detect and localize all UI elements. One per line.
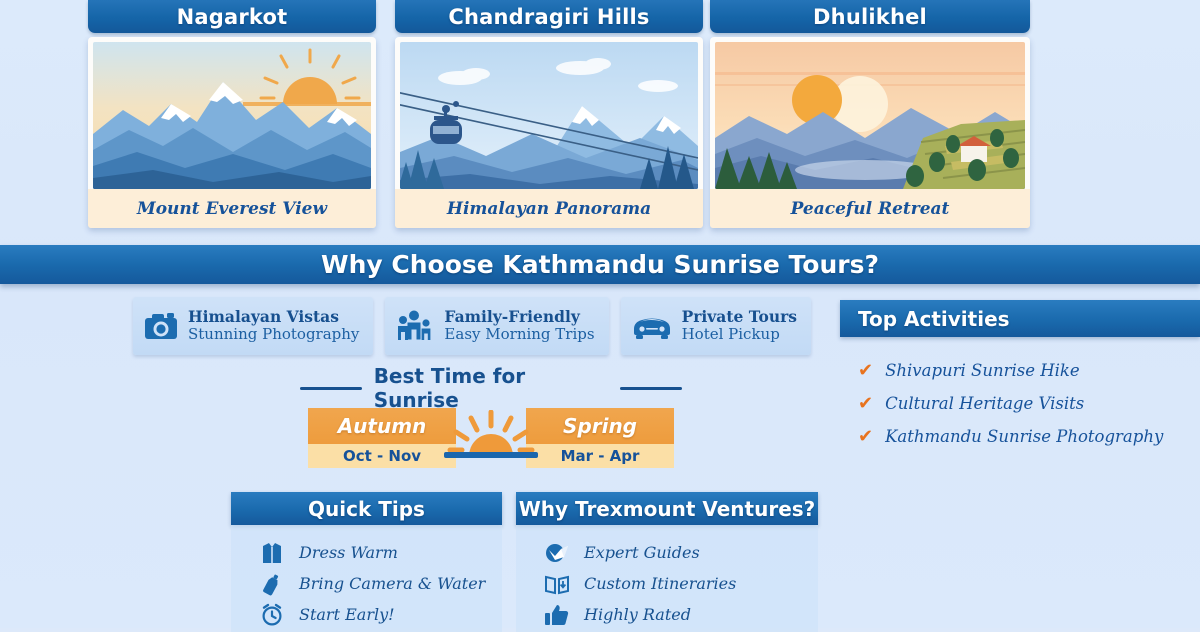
season-block-autumn[interactable]: Autumn Oct - Nov	[308, 408, 456, 468]
destination-card-row: Nagarkot	[0, 0, 1200, 232]
why-trexmount-item[interactable]: Expert Guides	[516, 537, 818, 568]
why-trexmount-label: Highly Rated	[584, 605, 691, 624]
best-time-section: Best Time for Sunrise Autumn Oct - Nov S…	[300, 375, 682, 466]
card-caption-text: Himalayan Panorama	[447, 199, 651, 219]
feature-badge-line1: Family-Friendly	[444, 308, 594, 326]
feature-badge-text: Private Tours Hotel Pickup	[682, 308, 797, 343]
camera-icon-glyph	[143, 311, 179, 341]
activity-item[interactable]: ✔ Cultural Heritage Visits	[858, 387, 1200, 420]
card-caption-text: Mount Everest View	[137, 199, 327, 219]
quick-tip-item[interactable]: Start Early!	[231, 599, 502, 630]
season-months: Oct - Nov	[343, 447, 421, 465]
card-body: Peaceful Retreat	[710, 37, 1030, 228]
feature-badge-text: Family-Friendly Easy Morning Trips	[444, 308, 594, 343]
check-icon: ✔	[858, 428, 873, 446]
car-icon	[631, 312, 673, 340]
activity-item[interactable]: ✔ Kathmandu Sunrise Photography	[858, 420, 1200, 453]
card-caption: Himalayan Panorama	[395, 189, 703, 228]
quick-tip-item[interactable]: Dress Warm	[231, 537, 502, 568]
family-icon	[395, 310, 435, 342]
season-block-spring[interactable]: Spring Mar - Apr	[526, 408, 674, 468]
quick-tip-label: Start Early!	[299, 605, 395, 624]
season-months-band: Mar - Apr	[526, 444, 674, 468]
check-icon: ✔	[858, 362, 873, 380]
infographic-canvas: Nagarkot	[0, 0, 1200, 628]
season-months-band: Oct - Nov	[308, 444, 456, 468]
why-trexmount-item[interactable]: Custom Itineraries	[516, 568, 818, 599]
season-comparison: Autumn Oct - Nov Spring Mar - Apr	[300, 408, 682, 466]
quick-tip-label: Bring Camera & Water	[299, 574, 485, 593]
activity-label: Cultural Heritage Visits	[885, 394, 1084, 413]
jacket-icon-glyph	[260, 541, 284, 565]
best-time-title: Best Time for Sunrise	[374, 364, 609, 412]
cable-car-hills-illustration	[400, 42, 698, 189]
card-image-nagarkot	[93, 42, 371, 189]
thumbs-up-icon-glyph	[544, 603, 570, 627]
quick-tips-panel: Quick Tips Dress Warm	[231, 492, 502, 632]
card-body: Mount Everest View	[88, 37, 376, 228]
card-image-dhulikhel	[715, 42, 1025, 189]
feature-badge-line1: Himalayan Vistas	[188, 308, 359, 326]
bottle-icon	[259, 572, 285, 596]
snow-mountains-sunrise-illustration	[93, 42, 371, 189]
season-name: Spring	[563, 414, 637, 438]
top-activities-list: ✔ Shivapuri Sunrise Hike ✔ Cultural Heri…	[840, 337, 1200, 453]
divider-rule-right	[620, 387, 682, 390]
card-title: Nagarkot	[177, 5, 288, 29]
thumbs-up-icon	[544, 603, 570, 627]
quick-tip-label: Dress Warm	[299, 543, 398, 562]
card-title: Chandragiri Hills	[448, 5, 649, 29]
terraced-valley-sunrise-illustration	[715, 42, 1025, 189]
why-trexmount-header: Why Trexmount Ventures?	[516, 492, 818, 525]
quick-tips-header: Quick Tips	[231, 492, 502, 525]
feature-badge[interactable]: Family-Friendly Easy Morning Trips	[385, 297, 608, 355]
best-time-title-row: Best Time for Sunrise	[300, 375, 682, 401]
card-body: Himalayan Panorama	[395, 37, 703, 228]
car-icon-glyph	[631, 312, 673, 340]
activity-item[interactable]: ✔ Shivapuri Sunrise Hike	[858, 354, 1200, 387]
map-icon	[544, 572, 570, 596]
top-activities-header: Top Activities	[840, 300, 1200, 337]
season-months: Mar - Apr	[561, 447, 640, 465]
feature-badge-text: Himalayan Vistas Stunning Photography	[188, 308, 359, 343]
card-image-chandragiri	[400, 42, 698, 189]
feature-badge-line2: Stunning Photography	[188, 326, 359, 343]
season-name: Autumn	[338, 414, 427, 438]
camera-icon	[143, 311, 179, 341]
activity-label: Kathmandu Sunrise Photography	[885, 427, 1163, 446]
main-banner-title: Why Choose Kathmandu Sunrise Tours?	[321, 250, 879, 279]
activity-label: Shivapuri Sunrise Hike	[885, 361, 1080, 380]
alarm-clock-icon	[259, 603, 285, 627]
quick-tip-item[interactable]: Bring Camera & Water	[231, 568, 502, 599]
jacket-icon	[259, 541, 285, 565]
divider-rule-left	[300, 387, 362, 390]
top-activities-panel: Top Activities ✔ Shivapuri Sunrise Hike …	[840, 300, 1200, 453]
bottle-icon-glyph	[260, 572, 284, 596]
card-caption-text: Peaceful Retreat	[791, 199, 950, 219]
season-name-band: Autumn	[308, 408, 456, 444]
why-trexmount-item[interactable]: Highly Rated	[516, 599, 818, 630]
why-trexmount-panel: Why Trexmount Ventures? Expert Guides	[516, 492, 818, 632]
map-icon-glyph	[544, 572, 570, 596]
feature-badge[interactable]: Himalayan Vistas Stunning Photography	[133, 297, 373, 355]
quick-tips-title: Quick Tips	[308, 497, 425, 521]
feature-badge[interactable]: Private Tours Hotel Pickup	[621, 297, 811, 355]
card-title: Dhulikhel	[813, 5, 927, 29]
card-header: Dhulikhel	[710, 0, 1030, 33]
why-trexmount-body: Expert Guides Custom Itineraries	[516, 525, 818, 632]
guide-badge-icon-glyph	[544, 541, 570, 565]
card-header: Nagarkot	[88, 0, 376, 33]
horizon-bar	[444, 452, 538, 458]
card-caption: Peaceful Retreat	[710, 189, 1030, 228]
destination-card[interactable]: Chandragiri Hills	[395, 0, 703, 228]
card-header: Chandragiri Hills	[395, 0, 703, 33]
top-activities-title: Top Activities	[858, 307, 1010, 331]
guide-badge-icon	[544, 541, 570, 565]
card-caption: Mount Everest View	[88, 189, 376, 228]
season-name-band: Spring	[526, 408, 674, 444]
check-icon: ✔	[858, 395, 873, 413]
feature-badge-line2: Hotel Pickup	[682, 326, 797, 343]
alarm-clock-icon-glyph	[260, 603, 284, 627]
family-icon-glyph	[395, 310, 435, 342]
destination-card[interactable]: Dhulikhel	[710, 0, 1030, 228]
why-trexmount-label: Expert Guides	[584, 543, 700, 562]
feature-badge-line1: Private Tours	[682, 308, 797, 326]
why-trexmount-label: Custom Itineraries	[584, 574, 736, 593]
why-trexmount-title: Why Trexmount Ventures?	[519, 497, 816, 521]
destination-card[interactable]: Nagarkot	[88, 0, 376, 228]
feature-badge-line2: Easy Morning Trips	[444, 326, 594, 343]
quick-tips-body: Dress Warm Bring Camera & Water	[231, 525, 502, 632]
main-banner: Why Choose Kathmandu Sunrise Tours?	[0, 245, 1200, 284]
feature-badge-row: Himalayan Vistas Stunning Photography Fa…	[133, 297, 811, 355]
